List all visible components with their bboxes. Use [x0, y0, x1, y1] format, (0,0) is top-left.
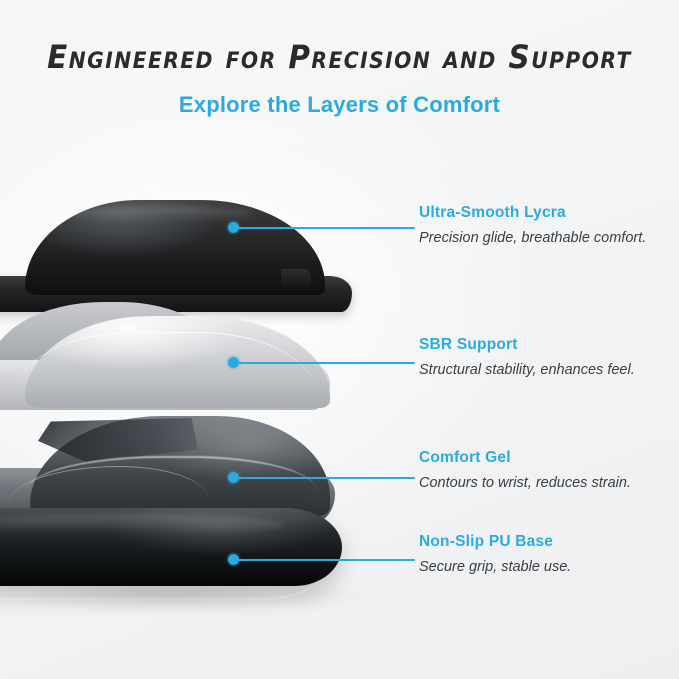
drop-shadow [0, 582, 380, 608]
product-layers-infographic: Engineered for Precision and Support Exp… [0, 0, 679, 679]
callout-title-gel: Comfort Gel [419, 449, 679, 467]
callout-text-gel: Comfort Gel Contours to wrist, reduces s… [419, 449, 679, 493]
callout-desc-pu-base: Secure grip, stable use. [419, 558, 651, 577]
page-subtitle: Explore the Layers of Comfort [0, 92, 679, 118]
callout-tick-sbr [399, 362, 415, 365]
callout-tick-pu-base [399, 559, 415, 562]
callout-title-sbr: SBR Support [419, 336, 679, 354]
callout-text-pu-base: Non-Slip PU Base Secure grip, stable use… [419, 533, 679, 577]
callout-line-lycra [236, 227, 412, 230]
callout-desc-lycra: Precision glide, breathable comfort. [419, 229, 651, 248]
lycra-edge-lip [281, 269, 311, 291]
callout-line-pu-base [236, 559, 412, 562]
callout-line-sbr [236, 362, 412, 365]
product-layer-stack [0, 150, 420, 620]
callout-line-gel [236, 477, 412, 480]
callout-tick-gel [399, 477, 415, 480]
callout-desc-gel: Contours to wrist, reduces strain. [419, 474, 651, 493]
page-title: Engineered for Precision and Support [27, 38, 652, 76]
callout-text-sbr: SBR Support Structural stability, enhanc… [419, 336, 679, 380]
callout-title-pu-base: Non-Slip PU Base [419, 533, 679, 551]
lycra-dome [25, 200, 325, 295]
callout-desc-sbr: Structural stability, enhances feel. [419, 361, 651, 380]
callout-text-lycra: Ultra-Smooth Lycra Precision glide, brea… [419, 204, 679, 248]
callout-title-lycra: Ultra-Smooth Lycra [419, 204, 679, 222]
callout-tick-lycra [399, 227, 415, 230]
